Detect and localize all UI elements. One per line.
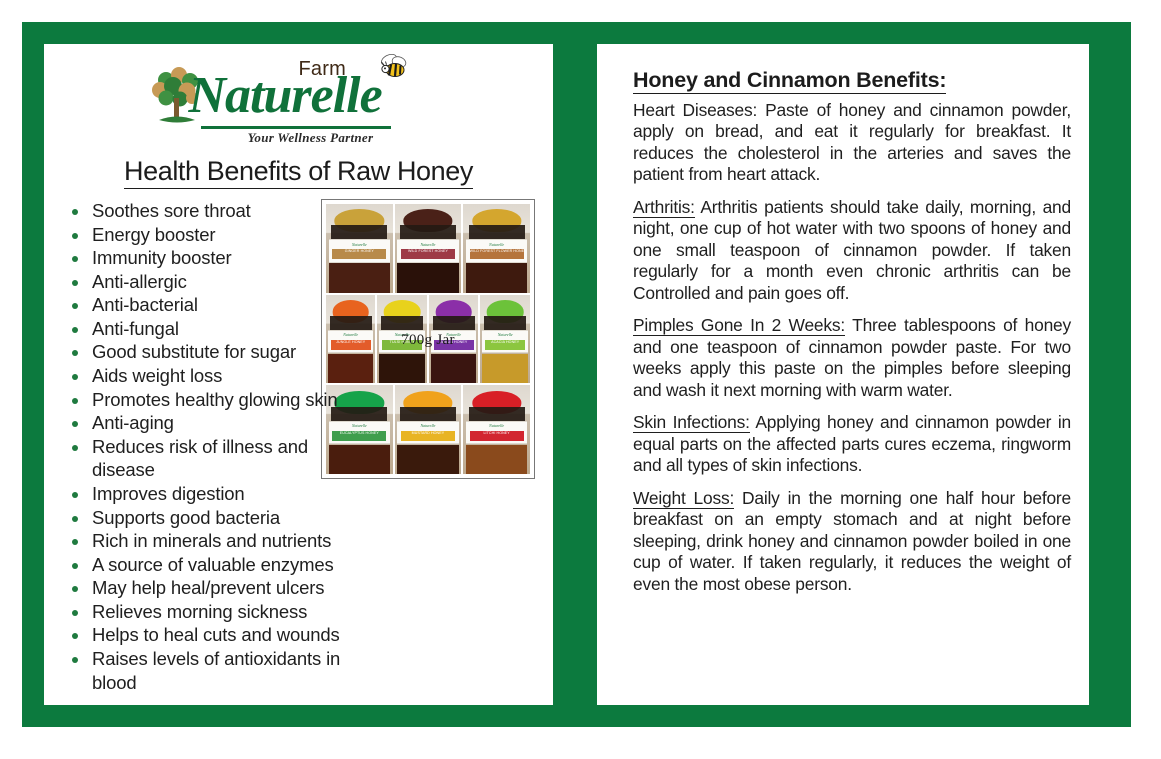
flyer-root: Farm Naturelle Your Wellness Partner (0, 0, 1161, 759)
jar-variant-name: TULSI HONEY (382, 340, 422, 350)
list-item: Improves digestion (68, 482, 368, 506)
jar-brandmark: Naturelle (498, 332, 513, 337)
list-item: Soothes sore throat (68, 199, 368, 223)
benefit-section: Weight Loss: Daily in the morning one ha… (633, 488, 1071, 595)
right-panel-title: Honey and Cinnamon Benefits: (633, 68, 1071, 93)
jar-label: NaturelleWILD FOREST HONEY (397, 239, 458, 262)
jar-label: NaturelleTULSI HONEY (379, 330, 425, 353)
list-item: Raises levels of antioxidants in blood (68, 647, 368, 694)
jar-variant-name: WILD FOREST HONEY (401, 249, 455, 259)
list-item: Reduces risk of illness and disease (68, 435, 368, 482)
jar-lid (400, 407, 456, 421)
page-title-text: Health Benefits of Raw Honey (124, 156, 473, 189)
list-item: Anti-allergic (68, 270, 368, 294)
honey-contents (397, 263, 458, 292)
section-heading: Weight Loss: (633, 488, 734, 509)
jar-label: NaturelleWILD FOREST FLOWER HONEY WITH I… (466, 239, 527, 262)
honey-contents (379, 354, 425, 383)
jar-brandmark: Naturelle (395, 332, 410, 337)
honey-contents (482, 354, 528, 383)
jar-variant-name: WILD FOREST FLOWER HONEY WITH INFUSED CI… (470, 249, 524, 259)
brand-underline-rule (201, 126, 391, 129)
right-panel-title-text: Honey and Cinnamon Benefits: (633, 68, 946, 94)
jar-lid (400, 225, 456, 239)
list-item: Relieves morning sickness (68, 600, 368, 624)
section-heading: Skin Infections: (633, 412, 750, 433)
list-item: Supports good bacteria (68, 506, 368, 530)
jar-lid (469, 225, 525, 239)
sections-container: Heart Diseases: Paste of honey and cinna… (633, 100, 1071, 595)
left-column: Farm Naturelle Your Wellness Partner (44, 44, 553, 705)
section-heading: Pimples Gone In 2 Weeks: (633, 315, 845, 336)
page-title: Health Benefits of Raw Honey (54, 156, 543, 187)
brand-tagline: Your Wellness Partner (211, 130, 411, 146)
benefit-section: Arthritis: Arthritis patients should tak… (633, 197, 1071, 304)
jar-lid (469, 407, 525, 421)
list-item: Rich in minerals and nutrients (68, 529, 368, 553)
list-item: Promotes healthy glowing skin (68, 388, 368, 412)
benefit-section: Heart Diseases: Paste of honey and cinna… (633, 100, 1071, 186)
list-item: Anti-fungal (68, 317, 368, 341)
product-jar: NaturelleJAMUN HONEY (429, 295, 479, 384)
jar-brandmark: Naturelle (420, 242, 435, 247)
jar-lid (484, 316, 526, 330)
jar-brandmark: Naturelle (489, 423, 504, 428)
jar-label: NaturelleMUSTARD HONEY (397, 421, 458, 444)
list-item: Aids weight loss (68, 364, 368, 388)
product-jar: NaturelleACACIA HONEY (480, 295, 530, 384)
list-item: Energy booster (68, 223, 368, 247)
jar-variant-name: ACACIA HONEY (485, 340, 525, 350)
section-heading: Heart Diseases: (633, 100, 757, 120)
list-item: Immunity booster (68, 246, 368, 270)
benefit-section: Skin Infections: Applying honey and cinn… (633, 412, 1071, 476)
honey-contents (397, 445, 458, 474)
honey-contents (466, 263, 527, 292)
list-item: Anti-bacterial (68, 293, 368, 317)
brand-logo: Farm Naturelle Your Wellness Partner (54, 52, 543, 152)
section-heading: Arthritis: (633, 197, 695, 218)
left-content-row: NaturelleGINGER HONEYNaturelleWILD FORES… (54, 199, 543, 694)
brand-name: Naturelle (189, 70, 382, 122)
list-item: Anti-aging (68, 411, 368, 435)
jar-label: NaturelleJAMUN HONEY (431, 330, 477, 353)
jar-brandmark: Naturelle (489, 242, 504, 247)
jar-brandmark: Naturelle (420, 423, 435, 428)
list-item: May help heal/prevent ulcers (68, 576, 368, 600)
jar-label: NaturelleLITCHI HONEY (466, 421, 527, 444)
jar-brandmark: Naturelle (446, 332, 461, 337)
product-jar: NaturelleWILD FOREST HONEY (395, 204, 462, 293)
product-jar: NaturelleLITCHI HONEY (463, 385, 530, 474)
honey-contents (431, 354, 477, 383)
honey-contents (466, 445, 527, 474)
jar-variant-name: JAMUN HONEY (434, 340, 474, 350)
jar-lid (381, 316, 423, 330)
jar-lid (433, 316, 475, 330)
benefit-section: Pimples Gone In 2 Weeks: Three tablespoo… (633, 315, 1071, 401)
product-jar: NaturelleWILD FOREST FLOWER HONEY WITH I… (463, 204, 530, 293)
section-body: Arthritis patients should take daily, mo… (633, 197, 1071, 303)
list-item: A source of valuable enzymes (68, 553, 368, 577)
product-jar: NaturelleMUSTARD HONEY (395, 385, 462, 474)
jar-variant-name: MUSTARD HONEY (401, 431, 455, 441)
right-column: Honey and Cinnamon Benefits: Heart Disea… (597, 44, 1089, 705)
jar-variant-name: LITCHI HONEY (470, 431, 524, 441)
list-item: Good substitute for sugar (68, 340, 368, 364)
list-item: Helps to heal cuts and wounds (68, 623, 368, 647)
jar-label: NaturelleACACIA HONEY (482, 330, 528, 353)
product-jar: NaturelleTULSI HONEY (377, 295, 427, 384)
